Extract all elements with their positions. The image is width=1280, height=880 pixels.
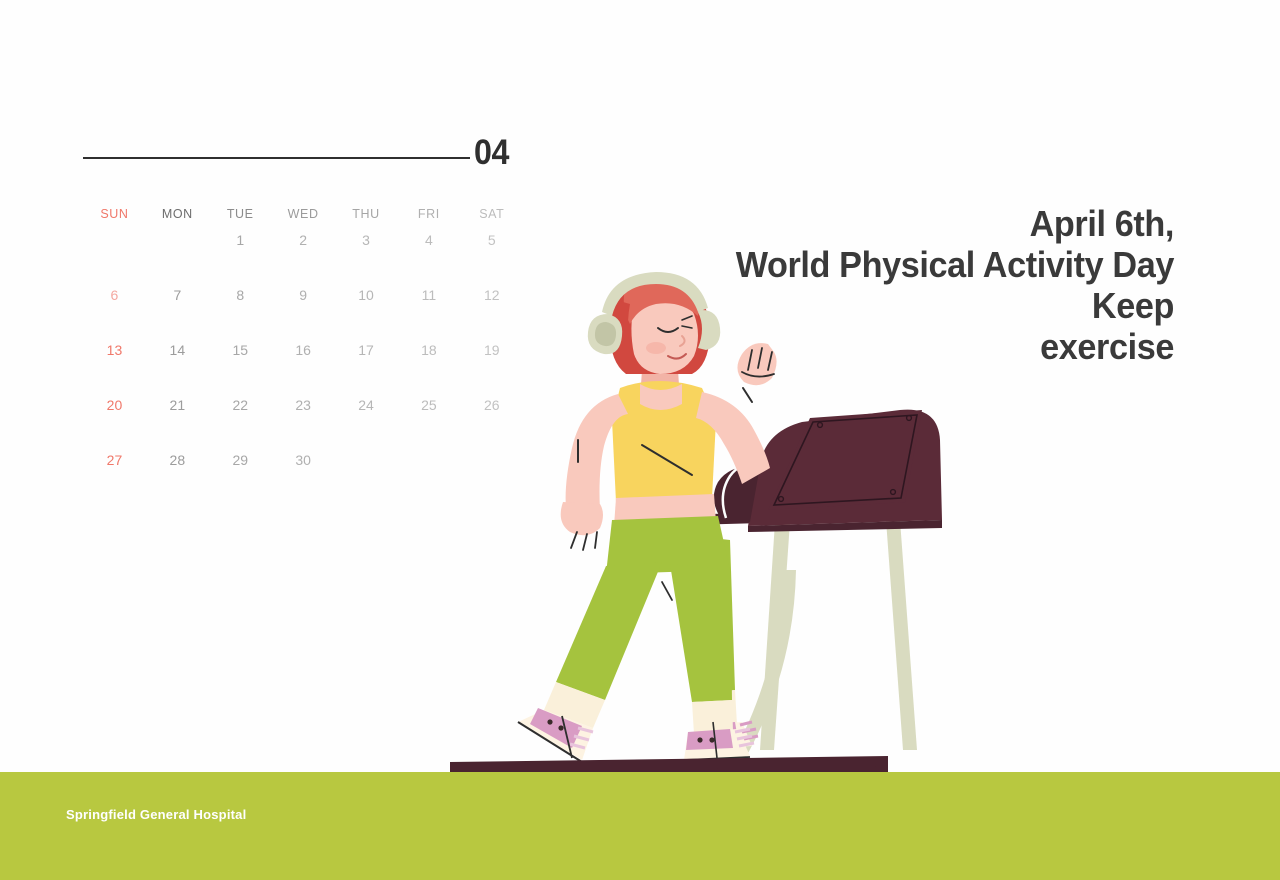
weekday-fri: FRI bbox=[397, 203, 460, 229]
calendar-day-cell[interactable]: 21 bbox=[146, 394, 209, 449]
figure-body bbox=[518, 343, 777, 762]
weekday-tue: TUE bbox=[209, 203, 272, 229]
calendar-day-cell[interactable]: 20 bbox=[83, 394, 146, 449]
calendar-day-cell[interactable]: 16 bbox=[272, 339, 335, 394]
footer-brand-name: Springfield General Hospital bbox=[66, 807, 246, 822]
calendar-day-cell[interactable]: 17 bbox=[335, 339, 398, 394]
weekday-wed: WED bbox=[272, 203, 335, 229]
calendar-day-cell[interactable] bbox=[146, 229, 209, 284]
calendar-day-cell[interactable]: 29 bbox=[209, 449, 272, 504]
headline-line-1: April 6th, bbox=[585, 203, 1174, 244]
weekday-sat: SAT bbox=[460, 203, 523, 229]
figure-head bbox=[588, 272, 720, 374]
calendar-day-cell[interactable]: 13 bbox=[83, 339, 146, 394]
calendar-day-cell[interactable]: 28 bbox=[146, 449, 209, 504]
calendar-month-number: 04 bbox=[474, 133, 509, 173]
calendar-day-cell[interactable] bbox=[83, 229, 146, 284]
calendar-day-cell[interactable]: 27 bbox=[83, 449, 146, 504]
weekday-mon: MON bbox=[146, 203, 209, 229]
calendar-day-cell-empty bbox=[335, 449, 398, 504]
treadmill-legs-icon bbox=[730, 520, 917, 764]
calendar-day-cell[interactable]: 10 bbox=[335, 284, 398, 339]
poster-canvas: 04 SUN MON TUE WED THU FRI SAT 1 2 3 4 5… bbox=[0, 0, 1280, 880]
calendar-day-cell[interactable]: 9 bbox=[272, 284, 335, 339]
calendar-day-cell[interactable]: 30 bbox=[272, 449, 335, 504]
calendar-weekday-row: SUN MON TUE WED THU FRI SAT bbox=[83, 203, 523, 229]
calendar-day-cell[interactable]: 24 bbox=[335, 394, 398, 449]
calendar-day-cell[interactable]: 2 bbox=[272, 229, 335, 284]
treadmill-illustration bbox=[430, 270, 960, 800]
calendar-day-cell[interactable]: 14 bbox=[146, 339, 209, 394]
calendar-day-cell[interactable]: 22 bbox=[209, 394, 272, 449]
calendar-day-cell[interactable]: 15 bbox=[209, 339, 272, 394]
calendar-header-rule bbox=[83, 157, 470, 159]
calendar-day-cell[interactable]: 1 bbox=[209, 229, 272, 284]
footer-band bbox=[0, 772, 1280, 880]
calendar-day-cell[interactable]: 23 bbox=[272, 394, 335, 449]
calendar-day-cell-highlighted[interactable]: 6 bbox=[83, 284, 146, 339]
weekday-sun: SUN bbox=[83, 203, 146, 229]
calendar-day-cell[interactable]: 7 bbox=[146, 284, 209, 339]
calendar-day-cell[interactable]: 8 bbox=[209, 284, 272, 339]
calendar-day-cell[interactable]: 3 bbox=[335, 229, 398, 284]
weekday-thu: THU bbox=[335, 203, 398, 229]
